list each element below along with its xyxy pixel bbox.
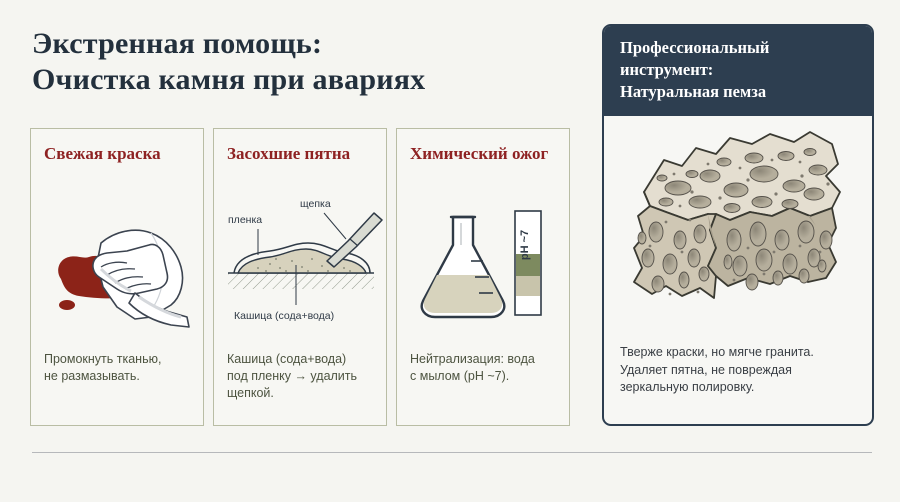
card-caption: Промокнуть тканью, не размазывать. — [44, 351, 193, 385]
hand-wiping-paint-illustration — [31, 201, 203, 346]
panel-header-line-3: Натуральная пемза — [620, 81, 856, 103]
label-film: пленка — [228, 214, 262, 226]
page-title-line-2: Очистка камня при авариях — [32, 62, 572, 98]
card-caption: Кашица (сода+вода) под пленку → удалить … — [227, 351, 376, 402]
pumice-block-illustration — [604, 116, 872, 321]
panel-header: Профессиональный инструмент: Натуральная… — [604, 26, 872, 116]
pumice-panel: Профессиональный инструмент: Натуральная… — [602, 24, 874, 426]
card-chemical-burn: Химический ожог — [396, 128, 570, 426]
label-paste: Кашица (сода+вода) — [234, 310, 334, 322]
card-caption: Нейтрализация: вода с мылом (pH ~7). — [410, 351, 559, 385]
bottom-divider — [32, 452, 872, 453]
label-ph-strip: pH ~7 — [519, 230, 531, 260]
page-title: Экстренная помощь: Очистка камня при ава… — [32, 26, 572, 98]
poultice-diagram-illustration: пленка щепка Кашица (сода+вода) — [214, 189, 386, 349]
page-title-line-1: Экстренная помощь: — [32, 26, 572, 62]
panel-header-line-1: Профессиональный — [620, 37, 856, 59]
card-fresh-paint: Свежая краска — [30, 128, 204, 426]
card-dried-stains: Засохшие пятна — [213, 128, 387, 426]
card-title: Засохшие пятна — [227, 143, 373, 165]
panel-caption: Тверже краски, но мягче гранита. Удаляет… — [620, 344, 860, 397]
cards-row: Свежая краска — [30, 128, 570, 426]
flask-ph-strip-illustration: pH ~7 — [397, 205, 569, 335]
infographic-page: Экстренная помощь: Очистка камня при ава… — [0, 0, 900, 502]
card-title: Химический ожог — [410, 143, 556, 165]
panel-header-line-2: инструмент: — [620, 59, 856, 81]
card-title: Свежая краска — [44, 143, 190, 165]
label-scraper: щепка — [300, 198, 331, 210]
